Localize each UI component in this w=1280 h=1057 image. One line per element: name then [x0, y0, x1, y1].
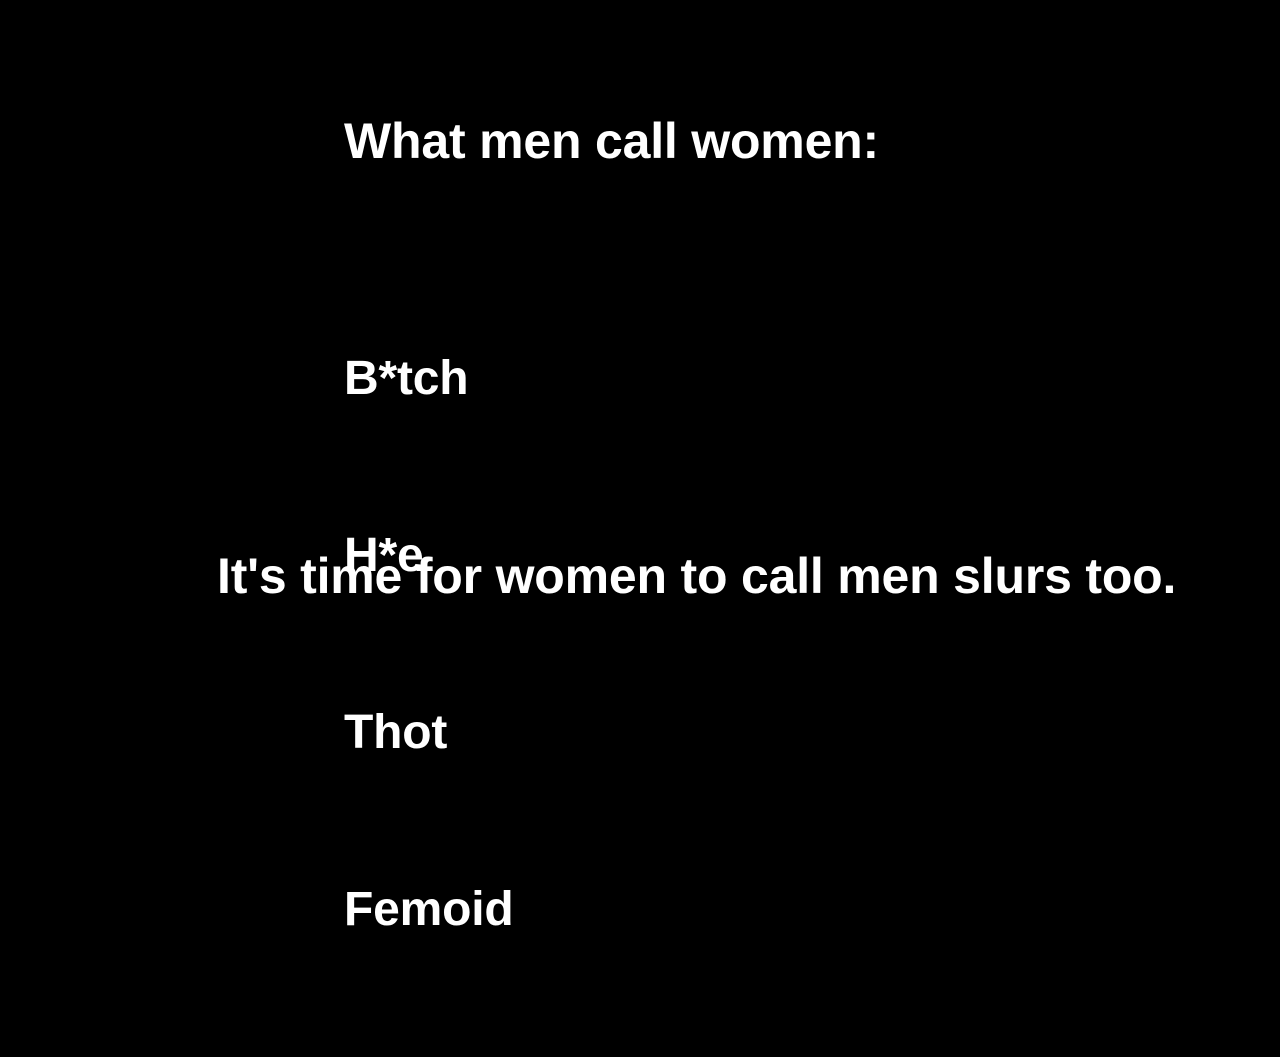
term-list-item: Femoid	[344, 880, 513, 939]
term-list-item: Thot	[344, 703, 513, 762]
closing-statement: It's time for women to call men slurs to…	[217, 548, 1176, 604]
meme-slide: What men call women: B*tch H*e Thot Femo…	[0, 0, 1280, 720]
term-list-item: B*tch	[344, 349, 513, 408]
heading-text: What men call women:	[344, 113, 879, 169]
term-list: B*tch H*e Thot Femoid	[344, 231, 513, 1057]
